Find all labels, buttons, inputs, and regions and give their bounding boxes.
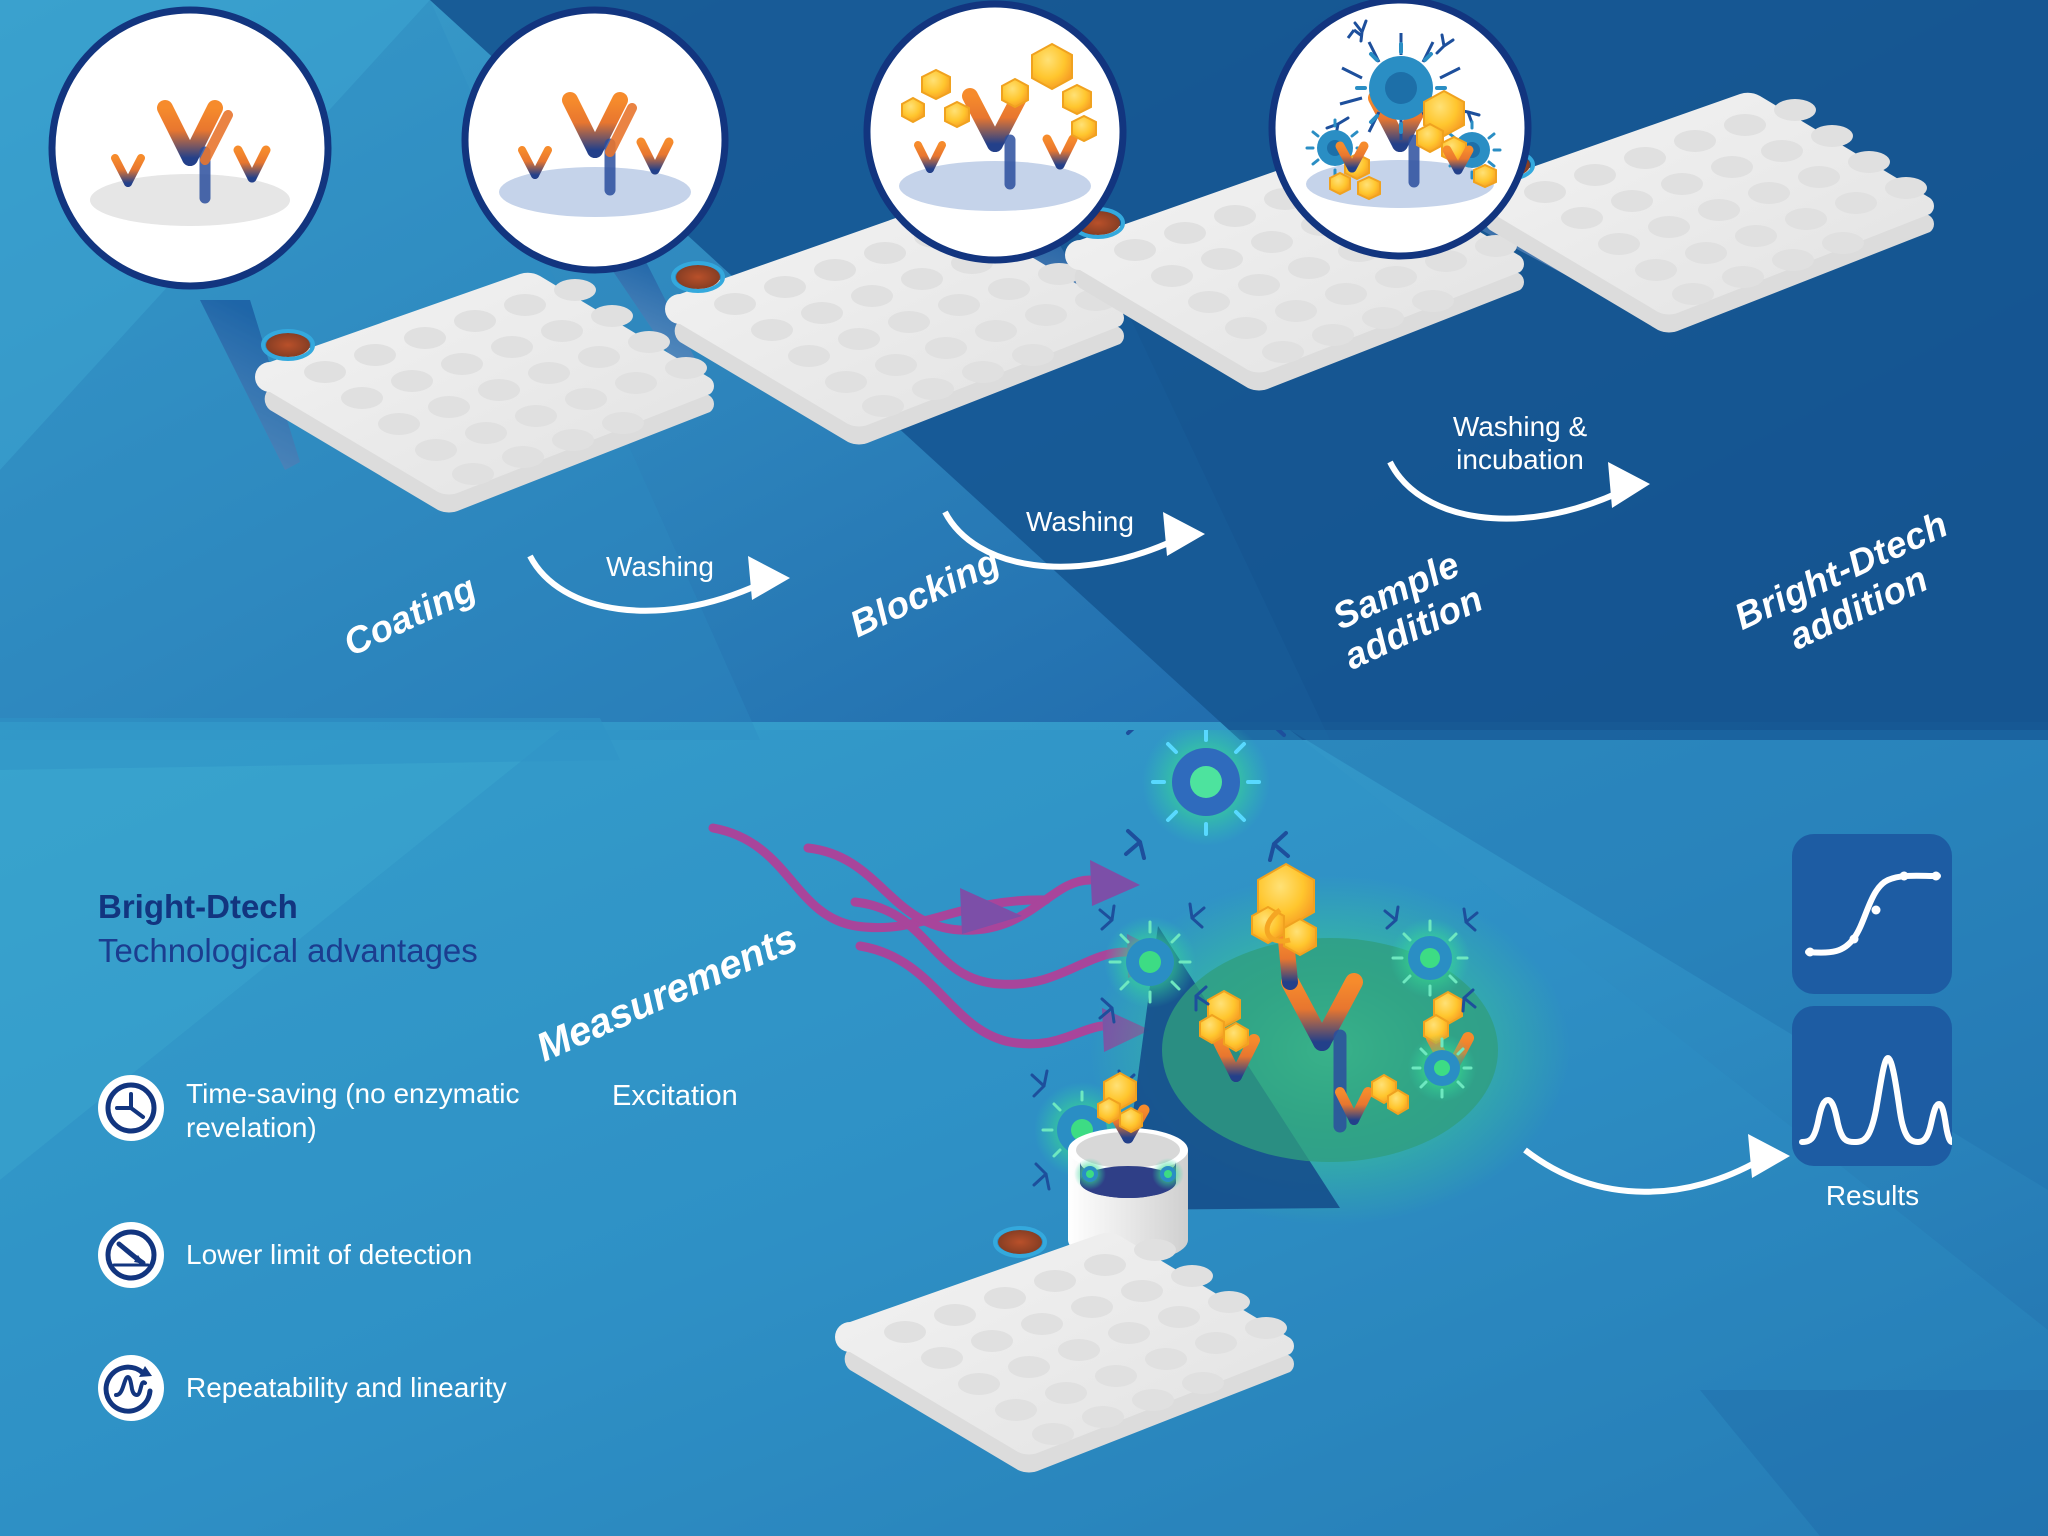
infographic-canvas: Coating Blocking Sample addition Bright-… [0, 0, 2048, 1536]
advantage-label-time-saving: Time-saving (no enzymatic revelation) [186, 1077, 520, 1145]
arrowhead-results [1748, 1134, 1790, 1178]
sigmoid-curve-card[interactable] [1792, 834, 1952, 994]
arrow-to-results [1525, 1150, 1760, 1192]
nanoparticle-free-top [1126, 730, 1288, 860]
transition-label-washing-incubation: Washing & incubation [1405, 410, 1635, 476]
advantage-item-time-saving: Time-saving (no enzymatic revelation) [98, 1075, 658, 1145]
clock-icon [98, 1075, 164, 1141]
advantage-item-repeatability: Repeatability and linearity [98, 1355, 658, 1421]
advantages-subtitle: Technological advantages [98, 932, 638, 970]
results-label: Results [1780, 1180, 1965, 1212]
advantage-label-lower-lod: Lower limit of detection [186, 1238, 472, 1272]
advantage-item-lower-lod: Lower limit of detection [98, 1222, 658, 1288]
repeat-peaks-icon [98, 1355, 164, 1421]
transition-label-washing-1: Washing [560, 550, 760, 583]
advantages-brand: Bright-Dtech [98, 888, 638, 926]
advantages-panel: Bright-Dtech Technological advantages [98, 888, 638, 970]
spectrum-peaks-card[interactable] [1792, 1006, 1952, 1166]
bubble-sample-addition [1272, 0, 1528, 256]
microplate-measurements [835, 1228, 1294, 1472]
advantage-label-repeatability: Repeatability and linearity [186, 1371, 507, 1405]
transition-label-washing-2: Washing [980, 505, 1180, 538]
microplate-bright-dtech [1475, 93, 1934, 333]
gauge-icon [98, 1222, 164, 1288]
bubble-coating [52, 10, 328, 286]
bubble-washing [465, 10, 725, 270]
bubble-blocking [867, 4, 1123, 260]
